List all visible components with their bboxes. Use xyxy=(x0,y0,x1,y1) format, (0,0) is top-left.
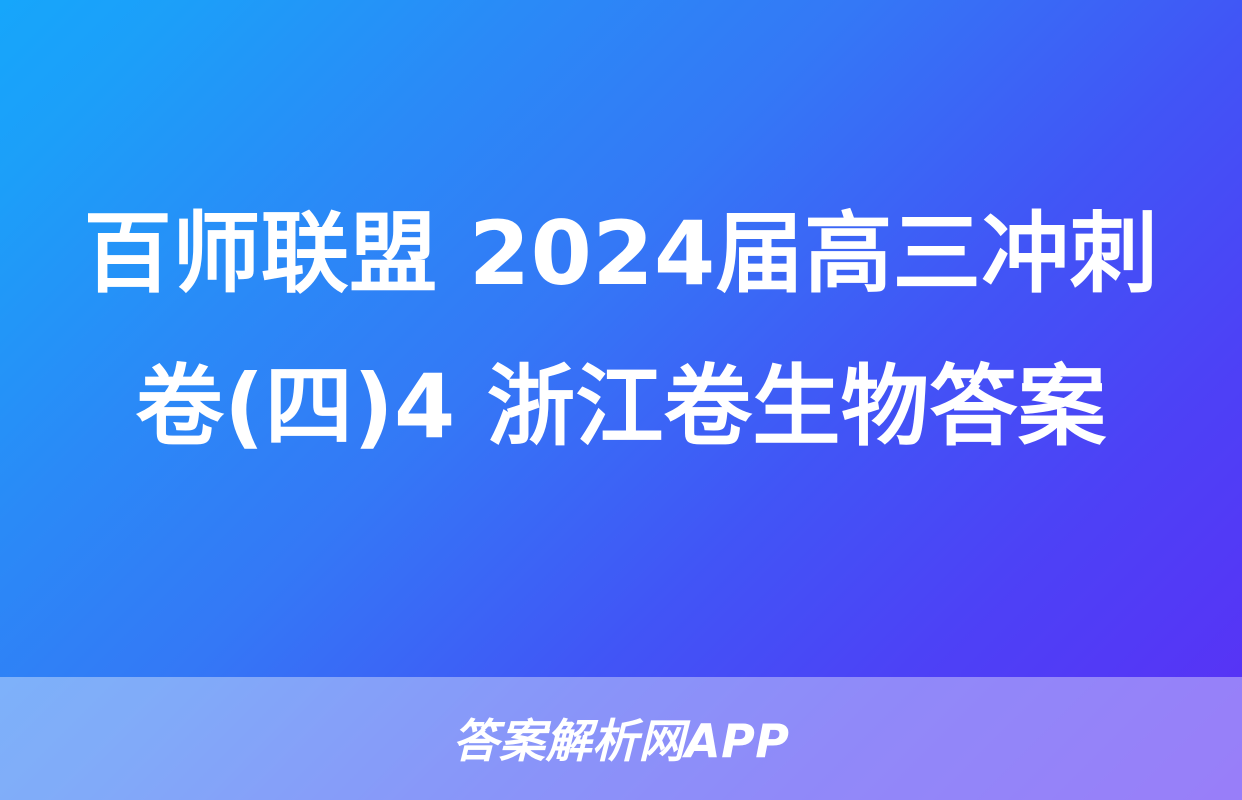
app-watermark-label: 答案解析网APP xyxy=(452,715,789,767)
cover-card: 百师联盟 2024届高三冲刺卷(四)4 浙江卷生物答案 答案解析网APP xyxy=(0,0,1242,800)
watermark-band: 答案解析网APP xyxy=(0,677,1242,800)
title-block: 百师联盟 2024届高三冲刺卷(四)4 浙江卷生物答案 xyxy=(0,0,1242,677)
page-title: 百师联盟 2024届高三冲刺卷(四)4 浙江卷生物答案 xyxy=(76,177,1166,483)
